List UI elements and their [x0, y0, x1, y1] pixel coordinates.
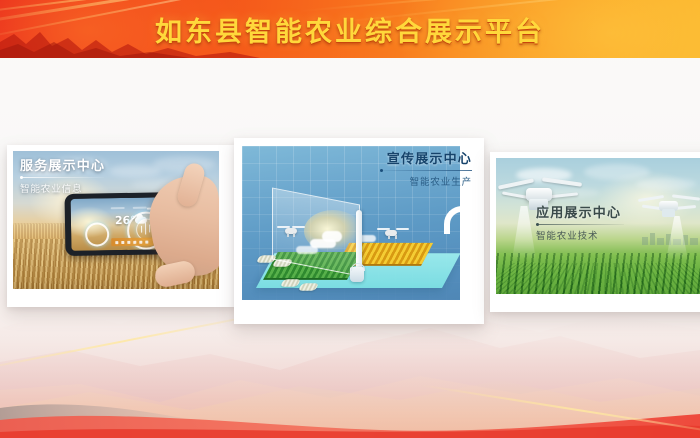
status-chip	[111, 237, 153, 246]
drone-small-right	[378, 226, 408, 242]
title-divider	[536, 224, 624, 225]
drone-large-right	[638, 188, 700, 224]
card-service-label: 服务展示中心 智能农业信息	[20, 155, 105, 195]
card-application-subtitle: 智能农业技术	[536, 228, 624, 242]
isometric-farm-scene	[252, 204, 452, 294]
cloud-shape	[296, 246, 318, 254]
drone-tank	[662, 209, 675, 217]
card-service-title: 服务展示中心	[20, 155, 105, 174]
card-promotion-title: 宣传展示中心	[380, 148, 472, 167]
card-application-display-center[interactable]: 应用展示中心 智能农业技术	[490, 152, 700, 312]
card-application-title: 应用展示中心	[536, 202, 624, 221]
pole-arm	[444, 206, 460, 234]
card-promotion-label: 宣传展示中心 智能农业生产	[380, 148, 472, 188]
hay-bale	[298, 283, 319, 291]
card-promotion-display-center[interactable]: 宣传展示中心 智能农业生产	[234, 138, 484, 324]
water-bucket	[350, 267, 364, 282]
drone-small-left	[278, 224, 304, 238]
page-title: 如东县智能农业综合展示平台	[0, 0, 700, 58]
header-banner: 如东县智能农业综合展示平台	[0, 0, 700, 58]
cloud-shape	[322, 231, 342, 242]
card-service-display-center[interactable]: 26°	[7, 145, 237, 307]
card-service-subtitle: 智能农业信息	[20, 181, 105, 195]
platform-landing-page: 如东县智能农业综合展示平台 26°	[0, 0, 700, 438]
card-promotion-subtitle: 智能农业生产	[380, 174, 472, 188]
title-divider	[20, 177, 104, 178]
title-divider	[380, 170, 472, 171]
cloud-shape	[584, 164, 650, 180]
hud-ring-left	[85, 222, 109, 246]
card-application-label: 应用展示中心 智能农业技术	[536, 202, 624, 242]
